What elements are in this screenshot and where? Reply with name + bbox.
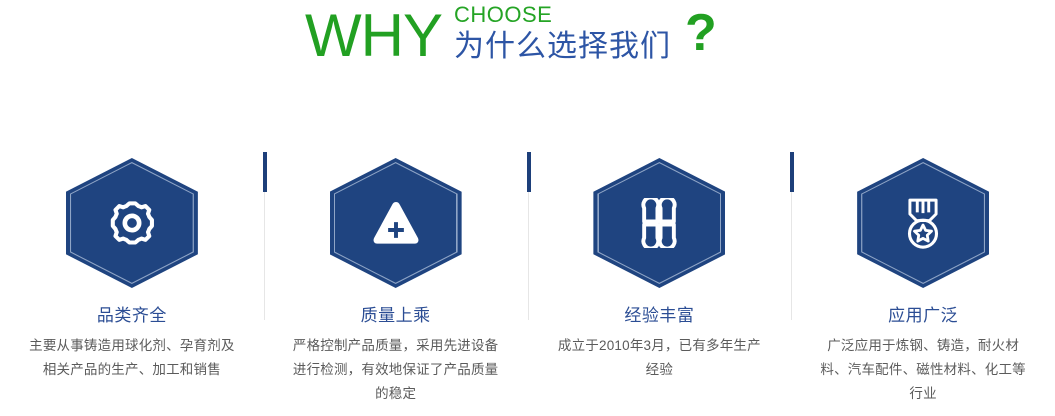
headline-why: WHY bbox=[305, 0, 442, 72]
feature-hexagon bbox=[66, 158, 198, 288]
triangle-plus-icon bbox=[330, 158, 462, 288]
headline-stack: CHOOSE 为什么选择我们 bbox=[454, 0, 671, 66]
feature-hexagon bbox=[593, 158, 725, 288]
headline-choose: CHOOSE bbox=[454, 2, 671, 28]
feature-list: 品类齐全 主要从事铸造用球化剂、孕育剂及相关产品的生产、加工和销售 质量上乘 严… bbox=[0, 148, 1055, 416]
column-divider bbox=[528, 152, 529, 320]
feature-description: 成立于2010年3月，已有多年生产经验 bbox=[552, 334, 767, 382]
column-divider bbox=[791, 152, 792, 320]
feature-hexagon bbox=[857, 158, 989, 288]
feature-description: 主要从事铸造用球化剂、孕育剂及相关产品的生产、加工和销售 bbox=[24, 334, 239, 382]
feature-title: 质量上乘 bbox=[361, 304, 431, 328]
feature-title: 应用广泛 bbox=[888, 304, 958, 328]
section-header: WHY CHOOSE 为什么选择我们 ? bbox=[0, 0, 1055, 90]
feature-item[interactable]: 经验丰富 成立于2010年3月，已有多年生产经验 bbox=[528, 148, 792, 416]
feature-title: 品类齐全 bbox=[97, 304, 167, 328]
feature-description: 广泛应用于炼钢、铸造，耐火材料、汽车配件、磁性材料、化工等行业 bbox=[816, 334, 1031, 406]
feature-item[interactable]: 应用广泛 广泛应用于炼钢、铸造，耐火材料、汽车配件、磁性材料、化工等行业 bbox=[791, 148, 1055, 416]
feature-title: 经验丰富 bbox=[624, 304, 694, 328]
feature-item[interactable]: 质量上乘 严格控制产品质量，采用先进设备进行检测，有效地保证了产品质量的稳定 bbox=[264, 148, 528, 416]
feature-hexagon bbox=[330, 158, 462, 288]
gear-icon bbox=[66, 158, 198, 288]
feature-item[interactable]: 品类齐全 主要从事铸造用球化剂、孕育剂及相关产品的生产、加工和销售 bbox=[0, 148, 264, 416]
medal-star-icon bbox=[857, 158, 989, 288]
header-title-group: WHY CHOOSE 为什么选择我们 ? bbox=[305, 0, 717, 72]
four-petal-clover-icon bbox=[593, 158, 725, 288]
question-mark-icon: ? bbox=[685, 4, 717, 72]
feature-description: 严格控制产品质量，采用先进设备进行检测，有效地保证了产品质量的稳定 bbox=[288, 334, 503, 406]
column-divider bbox=[264, 152, 265, 320]
headline-chinese: 为什么选择我们 bbox=[454, 28, 671, 66]
